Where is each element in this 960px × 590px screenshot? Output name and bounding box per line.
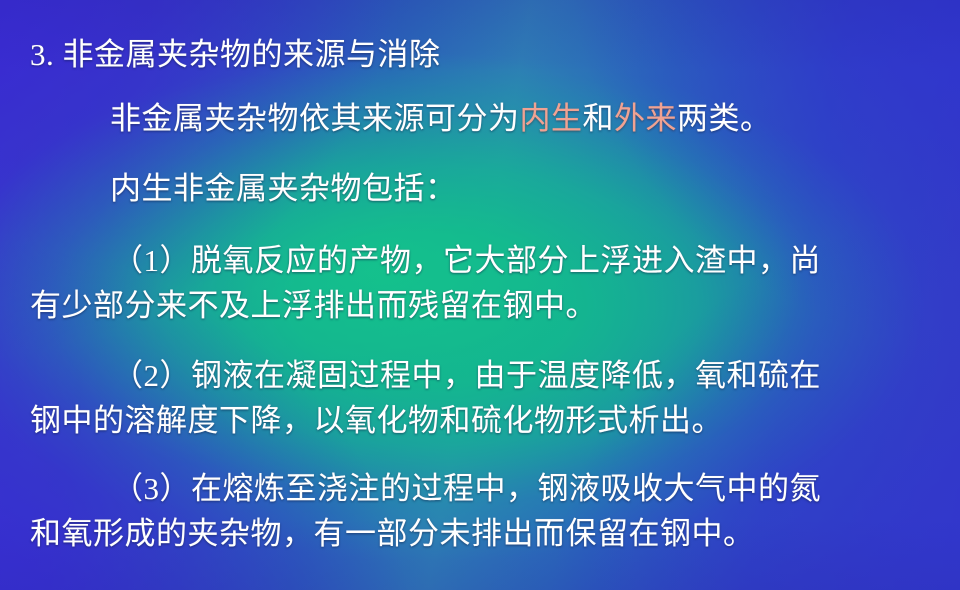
intro-text-middle: 和 [583,101,615,136]
intro-sentence: 非金属夹杂物依其来源可分为内生和外来两类。 [110,100,772,138]
slide-content: 3. 非金属夹杂物的来源与消除 非金属夹杂物依其来源可分为内生和外来两类。 内生… [0,0,960,590]
intro-text-after: 两类。 [677,101,772,136]
item-2-line-2: 钢中的溶解度下降，以氧化物和硫化物形式析出。 [30,402,723,440]
highlight-endogenous: 内生 [520,101,583,136]
item-1-line-1: （1）脱氧反应的产物，它大部分上浮进入渣中，尚 [112,242,821,280]
item-3-line-2: 和氧形成的夹杂物，有一部分未排出而保留在钢中。 [30,515,755,553]
intro-text-before: 非金属夹杂物依其来源可分为 [110,101,520,136]
item-1-line-2: 有少部分来不及上浮排出而残留在钢中。 [30,287,597,325]
slide-title: 3. 非金属夹杂物的来源与消除 [30,36,441,74]
lead-in-sentence: 内生非金属夹杂物包括： [110,170,457,208]
highlight-exogenous: 外来 [614,101,677,136]
slide-canvas: 3. 非金属夹杂物的来源与消除 非金属夹杂物依其来源可分为内生和外来两类。 内生… [0,0,960,590]
item-2-line-1: （2）钢液在凝固过程中，由于温度降低，氧和硫在 [112,357,821,395]
item-3-line-1: （3）在熔炼至浇注的过程中，钢液吸收大气中的氮 [112,470,821,508]
